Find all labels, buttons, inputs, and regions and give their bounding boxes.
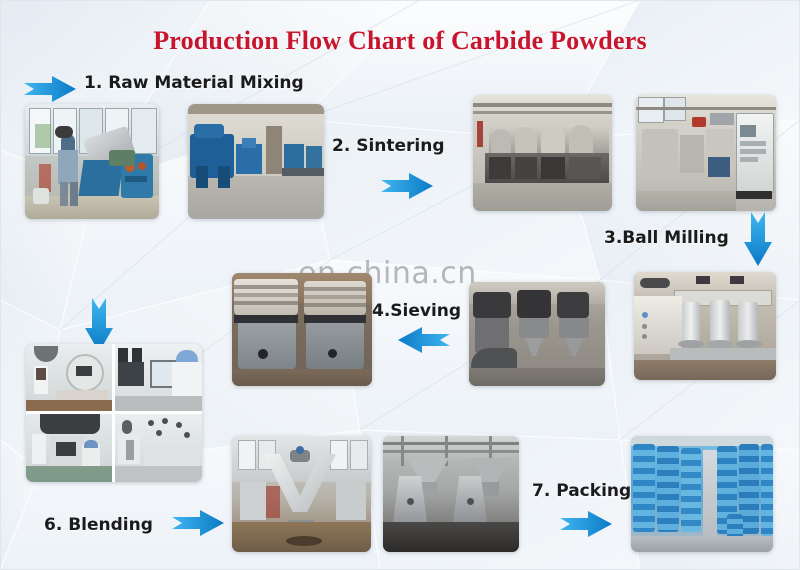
arrow-right-step-2 (381, 173, 433, 199)
photo-v-blender (232, 436, 371, 552)
photo-ball-mill-jars (634, 272, 776, 380)
arrow-left-step-4 (398, 327, 450, 353)
arrow-right-step-1 (24, 76, 76, 102)
step-7-label: 7. Packing (532, 481, 631, 501)
step-6-label: 6. Blending (44, 515, 153, 535)
photo-sieving-machines (232, 273, 372, 386)
step-2-label: 2. Sintering (332, 136, 445, 156)
arrow-right-step-6 (172, 510, 224, 536)
photo-packing-drums (631, 436, 773, 552)
photo-milling-hoppers (469, 282, 605, 386)
production-flow-chart-poster: Production Flow Chart of Carbide Powders… (0, 0, 800, 570)
photo-sintering-furnaces (473, 95, 612, 211)
photo-mixing-machine (25, 104, 159, 219)
step-3-label: 3.Ball Milling (604, 228, 729, 248)
step-1-label: 1. Raw Material Mixing (84, 73, 304, 93)
step-4-label: 4.Sieving (372, 301, 461, 321)
photo-ball-mill-control (636, 95, 776, 211)
photo-mixing-workshop (188, 104, 324, 219)
photo-cone-blenders (383, 436, 519, 552)
arrow-down-step-3 (744, 212, 772, 266)
page-title: Production Flow Chart of Carbide Powders (0, 26, 800, 56)
arrow-right-step-7 (560, 511, 612, 537)
photo-lab-grid (26, 344, 202, 482)
